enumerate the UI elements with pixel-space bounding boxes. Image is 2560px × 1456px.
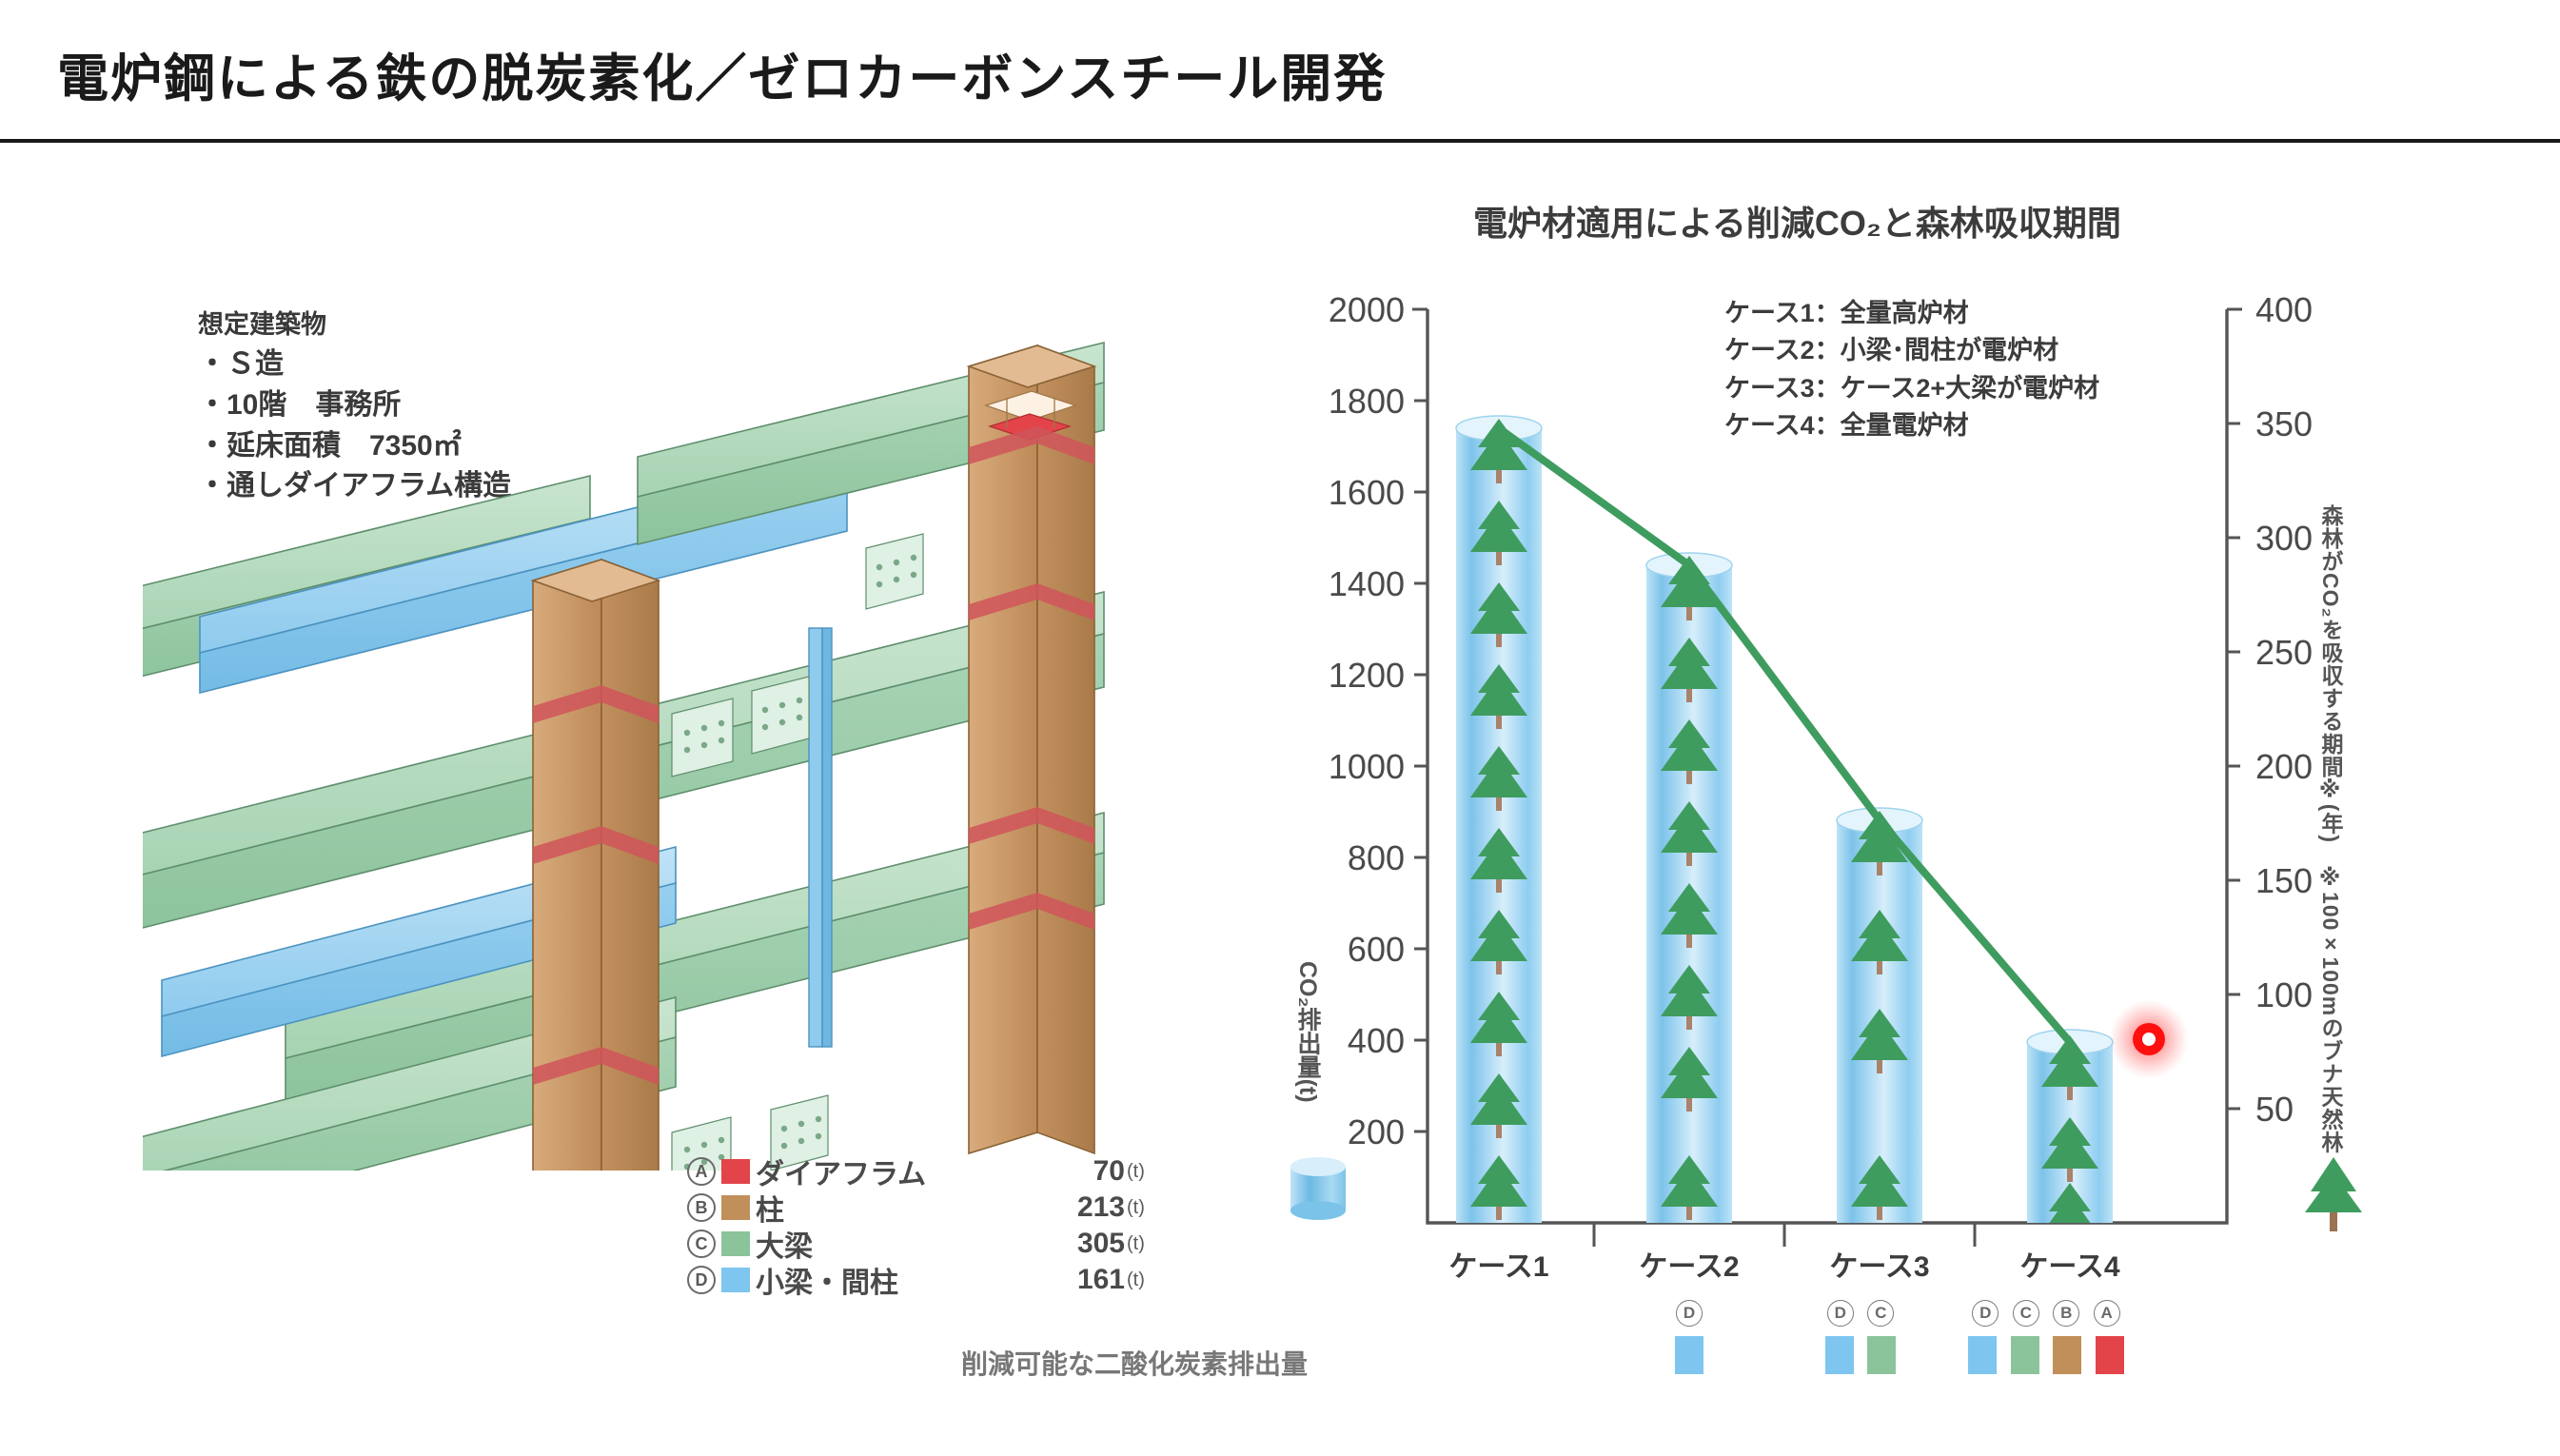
member-name: 小梁・間柱 <box>756 1259 1011 1301</box>
y-tick-label: 1200 <box>1329 656 1405 695</box>
y2-tick-label: 350 <box>2255 404 2313 443</box>
y-tick-label: 1000 <box>1329 747 1405 786</box>
case-material-row: D C B A <box>1922 1300 2170 1391</box>
material-mark-icon: A <box>2094 1300 2120 1327</box>
case4-swatches <box>1922 1336 2170 1374</box>
material-mark-icon: B <box>2053 1300 2079 1327</box>
member-mark-icon: D <box>687 1266 716 1294</box>
bolt-plate <box>672 534 923 1171</box>
y2-tick-label: 400 <box>2255 290 2313 329</box>
member-value: 305 <box>1011 1228 1125 1260</box>
bar-case2 <box>1646 553 1732 1223</box>
y-axis-right-tick-labels: 400 350 300 250 200 150 100 50 <box>2255 290 2313 1129</box>
forest-absorption-line <box>1499 428 2070 1042</box>
bar-case3 <box>1837 808 1922 1223</box>
member-value: 213 <box>1011 1191 1125 1224</box>
chart-title: 電炉材適用による削減CO₂と森林吸収期間 <box>1473 196 2121 246</box>
material-color-swatch <box>2011 1336 2039 1374</box>
x-tick-label: ケース2 <box>1585 1243 1794 1285</box>
chart-caption: 削減可能な二酸化炭素排出量 <box>961 1344 1308 1382</box>
material-color-swatch <box>2053 1336 2081 1374</box>
x-tick-label: ケース1 <box>1394 1243 1604 1285</box>
material-mark-icon: D <box>1676 1300 1703 1327</box>
member-mark-icon: B <box>687 1193 716 1222</box>
x-axis-labels: ケース1 ケース2 ケース3 ケース4 <box>1428 1237 2265 1294</box>
column-brown <box>969 345 1094 1153</box>
member-legend: A ダイアフラム 70 (t) B 柱 213 (t) C 大梁 305 (t)… <box>687 1153 1145 1298</box>
member-unit: (t) <box>1127 1197 1145 1219</box>
y2-tick-label: 200 <box>2255 747 2313 786</box>
member-color-swatch <box>721 1159 750 1184</box>
y-tick-label: 600 <box>1348 930 1405 969</box>
column-brown <box>533 560 659 1171</box>
member-color-swatch <box>721 1268 750 1292</box>
y2-tick-label: 150 <box>2255 861 2313 900</box>
chart-plot: 2000 1800 1600 1400 1200 1000 800 600 40… <box>1313 266 2455 1313</box>
y2-tick-label: 250 <box>2255 633 2313 672</box>
y-tick-label: 200 <box>1348 1112 1405 1151</box>
y-tick-label: 800 <box>1348 838 1405 877</box>
y-axis-right-ticks <box>2227 309 2242 1109</box>
bar-case1 <box>1456 416 1542 1223</box>
case4-marks: D C B A <box>1922 1300 2170 1327</box>
line-end-marker <box>2109 999 2189 1079</box>
y-tick-label: 2000 <box>1329 290 1405 329</box>
x-tick-label: ケース3 <box>1775 1243 1984 1285</box>
y-tick-label: 1400 <box>1329 564 1405 603</box>
member-legend-row: D 小梁・間柱 161 (t) <box>687 1262 1145 1298</box>
member-unit: (t) <box>1127 1161 1145 1183</box>
member-legend-row: B 柱 213 (t) <box>687 1190 1145 1226</box>
member-mark-icon: C <box>687 1230 716 1258</box>
x-tick-label: ケース4 <box>1965 1243 2175 1285</box>
member-legend-row: A ダイアフラム 70 (t) <box>687 1153 1145 1190</box>
y2-tick-label: 300 <box>2255 519 2313 558</box>
slide-header: 電炉鋼による鉄の脱炭素化／ゼロカーボンスチール開発 <box>0 0 2560 141</box>
bar-case4 <box>2027 1030 2113 1248</box>
material-mark-icon: D <box>1827 1300 1854 1327</box>
y2-tick-label: 50 <box>2255 1090 2294 1129</box>
y-tick-label: 400 <box>1348 1021 1405 1060</box>
y-axis-left-tick-labels: 2000 1800 1600 1400 1200 1000 800 600 40… <box>1329 290 1405 1151</box>
material-mark-icon: C <box>2013 1300 2039 1327</box>
material-color-swatch <box>2096 1336 2124 1374</box>
y2-tick-label: 100 <box>2255 975 2313 1014</box>
member-color-swatch <box>721 1195 750 1220</box>
header-divider <box>0 139 2560 143</box>
material-color-swatch <box>1968 1336 1997 1374</box>
member-unit: (t) <box>1127 1269 1145 1291</box>
material-color-swatch <box>1867 1336 1896 1374</box>
member-legend-row: C 大梁 305 (t) <box>687 1226 1145 1262</box>
steel-frame-diagram <box>143 314 1152 1171</box>
y-tick-label: 1600 <box>1329 473 1405 512</box>
slide-root: 電炉鋼による鉄の脱炭素化／ゼロカーボンスチール開発 想定建築物 ・Ｓ造 ・10階… <box>0 0 2560 1456</box>
stud-blue <box>809 628 832 1047</box>
material-color-swatch <box>1675 1336 1703 1374</box>
member-mark-icon: A <box>687 1157 716 1186</box>
member-color-swatch <box>721 1231 750 1256</box>
member-unit: (t) <box>1127 1233 1145 1255</box>
y-axis-left-ticks <box>1412 309 1428 1131</box>
y-tick-label: 1800 <box>1329 382 1405 421</box>
page-title: 電炉鋼による鉄の脱炭素化／ゼロカーボンスチール開発 <box>57 36 1387 111</box>
material-mark-icon: C <box>1867 1300 1894 1327</box>
material-color-swatch <box>1825 1336 1854 1374</box>
member-value: 161 <box>1011 1264 1125 1296</box>
member-value: 70 <box>1011 1155 1125 1188</box>
material-mark-icon: D <box>1972 1300 1999 1327</box>
